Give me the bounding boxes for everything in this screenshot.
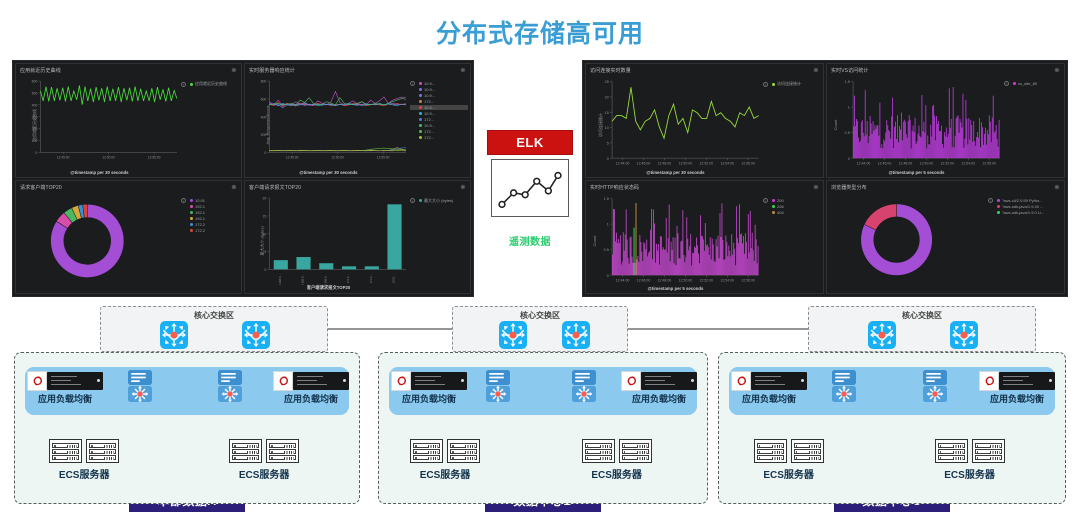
panel-plot-wrap: 051015202512:44:0012:46:0012:48:0012:50:… (588, 75, 821, 175)
legend-label: 最大大小 (bytes) (424, 198, 453, 204)
legend-color-dot (190, 205, 193, 208)
panel-title: 实时HTTP响应状态码 (586, 181, 823, 191)
ecs-group-right: ECS服务器 (579, 439, 655, 481)
legend-color-dot (190, 83, 193, 86)
legend-label: 10.9... (424, 105, 435, 110)
lb-label: 应用负载均衡 (391, 392, 467, 405)
datacenter-switch-right[interactable] (922, 369, 948, 403)
lb-appliance-icon (641, 372, 697, 390)
info-icon: i (410, 81, 415, 86)
gear-icon[interactable] (1054, 67, 1060, 73)
datacenter-switch-left[interactable] (127, 369, 153, 403)
panel-title: 请求客户端TOP20 (16, 181, 241, 191)
lb-label: 应用负载均衡 (273, 392, 349, 405)
svg-text:1: 1 (607, 222, 609, 226)
datacenter-switch-right[interactable] (571, 369, 597, 403)
panel-legend: i应用就近历史曲线 (181, 75, 239, 175)
legend-color-dot (419, 100, 422, 103)
svg-text:12:54:00: 12:54:00 (961, 162, 975, 166)
dashboard-panel: 客户端请求报文TOP2005101520192.168.0...192.168.… (244, 180, 471, 295)
panel-legend: i访问连接统计 (763, 75, 821, 175)
server-rack-icon (754, 439, 787, 463)
legend-item[interactable]: 404 (763, 210, 821, 215)
info-icon: i (1004, 81, 1009, 86)
panel-title: 实时VS访问统计 (827, 64, 1064, 74)
svg-text:12:46:00: 12:46:00 (637, 162, 651, 166)
lb-icon-row (273, 371, 349, 391)
plot-area (18, 192, 181, 292)
gear-icon[interactable] (813, 67, 819, 73)
dashboard-panel: 实时服务器响应统计020040060080012:45:0012:50:0012… (244, 63, 471, 178)
load-balancer-right: 应用负载均衡 (273, 371, 349, 405)
legend-color-dot (419, 106, 422, 109)
legend-color-dot (772, 83, 775, 86)
svg-text:0: 0 (264, 151, 266, 155)
dashboard-panel: 请求客户端TOP20i10.91192.1192.1192.1172.2172.… (15, 180, 242, 295)
y-axis-label: 最大大小 (bytes) (260, 227, 266, 256)
x-axis-label: @timestamp per 30 seconds (588, 170, 763, 175)
info-icon: i (763, 82, 768, 87)
dashboard-panel: 实时HTTP响应状态码00.511.512:44:0012:46:0012:48… (585, 180, 824, 295)
load-balancer-right: 应用负载均衡 (621, 371, 697, 405)
load-balancer-left: 应用负载均衡 (27, 371, 103, 405)
panel-legend: i200206404 (763, 192, 821, 292)
ecs-label: ECS服务器 (751, 466, 827, 481)
panel-plot-wrap: 020040060080012:45:0012:50:0012:55:00Avg… (247, 75, 468, 175)
legend-label: 10.9... (424, 123, 435, 128)
y-axis-label: Count (833, 119, 838, 130)
legend-item[interactable]: 192.1 (181, 204, 239, 209)
elk-header-label: ELK (487, 130, 573, 155)
dashboard-panel: 实时VS访问统计00.511.512:44:0012:46:0012:48:00… (826, 63, 1065, 178)
legend-color-dot (419, 136, 422, 139)
svg-text:10: 10 (605, 126, 609, 130)
legend-color-dot (772, 205, 775, 208)
plot-area: 05101520192.168.0...192.168.0...192.168.… (247, 192, 410, 292)
ecs-racks (579, 439, 655, 463)
svg-text:172.2...: 172.2... (369, 274, 373, 283)
legend-color-dot (997, 211, 1000, 214)
svg-text:15: 15 (605, 111, 609, 115)
legend-color-dot (419, 199, 422, 202)
core-switch-icon[interactable] (242, 321, 270, 349)
svg-text:20: 20 (263, 196, 267, 200)
core-switch-zone-1: 核心交换区 (100, 306, 328, 352)
f5-logo-icon (979, 371, 999, 391)
svg-text:172.2...: 172.2... (346, 274, 350, 283)
legend-color-dot (419, 112, 422, 115)
plot-area: 051015202512:44:0012:46:0012:48:0012:50:… (588, 75, 763, 175)
plot-area: 00.511.512:44:0012:46:0012:48:0012:50:00… (829, 75, 1004, 175)
panel-legend: i10.9...10.9...10.9...172...10.9...10.9.… (410, 75, 468, 175)
legend-item[interactable]: i10.9... (410, 81, 468, 86)
ecs-racks (46, 439, 122, 463)
svg-text:192.168.0...: 192.168.0... (301, 274, 305, 285)
svg-text:15: 15 (263, 214, 267, 218)
legend-label: 206 (777, 204, 784, 209)
server-rack-icon (619, 439, 652, 463)
legend-label: "aws-cli/2.0.59 Pytho... (1002, 198, 1043, 203)
svg-text:0: 0 (848, 157, 850, 161)
telemetry-data-label: 遥测数据 (487, 233, 573, 248)
legend-label: 172.2 (195, 222, 205, 227)
legend-label: 172... (424, 99, 434, 104)
svg-text:12:52:00: 12:52:00 (699, 162, 713, 166)
legend-label: 200 (777, 198, 784, 203)
ecs-group-left: ECS服务器 (46, 439, 122, 481)
svg-text:192.168.0...: 192.168.0... (278, 274, 282, 285)
dashboard-right: 访问连接实时数量051015202512:44:0012:46:0012:48:… (582, 60, 1068, 297)
svg-text:12:46:00: 12:46:00 (637, 278, 651, 282)
server-rack-icon (447, 439, 480, 463)
core-switch-icon[interactable] (868, 321, 896, 349)
info-icon: i (988, 198, 993, 203)
y-axis-label: 应用就近历史曲线 (32, 109, 38, 141)
gear-icon[interactable] (813, 184, 819, 190)
legend-color-dot (419, 82, 422, 85)
legend-item[interactable]: 192.1 (181, 210, 239, 215)
y-axis-label: 访问连接统计 (598, 113, 604, 137)
svg-text:12:54:00: 12:54:00 (720, 278, 734, 282)
legend-item[interactable]: 10.9... (410, 87, 468, 92)
legend-item[interactable]: 10.9... (410, 105, 468, 110)
legend-label: 10.9... (424, 93, 435, 98)
f5-logo-icon (27, 371, 47, 391)
svg-text:12:44:00: 12:44:00 (616, 162, 630, 166)
datacenter-3: 应用负载均衡 应用负载均衡 ECS服务器ECS服务器 (718, 352, 1066, 504)
legend-item[interactable]: "aws-sdk-java/1.9.40 ... (988, 204, 1062, 209)
svg-text:1.5: 1.5 (604, 197, 609, 201)
ecs-racks (932, 439, 1008, 463)
server-rack-icon (229, 439, 262, 463)
lb-label: 应用负载均衡 (731, 392, 807, 405)
svg-text:12:56:00: 12:56:00 (982, 162, 996, 166)
legend-item[interactable]: 172... (410, 99, 468, 104)
ecs-group-left: ECS服务器 (751, 439, 827, 481)
legend-item[interactable]: ivs_site_80 (1004, 81, 1062, 86)
svg-text:400: 400 (32, 103, 38, 107)
legend-label: 访问连接统计 (777, 81, 801, 87)
legend-color-dot (1013, 82, 1016, 85)
panel-legend: i"aws-cli/2.0.59 Pytho..."aws-sdk-java/1… (988, 192, 1062, 292)
svg-text:12:50:00: 12:50:00 (679, 162, 693, 166)
legend-label: vs_site_80 (1018, 81, 1037, 86)
svg-text:12:46:00: 12:46:00 (878, 162, 892, 166)
legend-item[interactable]: 172.2 (181, 228, 239, 233)
lb-icon-row (391, 371, 467, 391)
legend-label: "aws-sdk-java/1.9.0 Li... (1002, 210, 1044, 215)
f5-logo-icon (621, 371, 641, 391)
legend-item[interactable]: i200 (763, 198, 821, 203)
legend-color-dot (190, 199, 193, 202)
lb-icon-row (27, 371, 103, 391)
svg-text:0: 0 (607, 273, 609, 277)
svg-text:12:56:00: 12:56:00 (741, 162, 755, 166)
dashboard-panel: 访问连接实时数量051015202512:44:0012:46:0012:48:… (585, 63, 824, 178)
lb-label: 应用负载均衡 (621, 392, 697, 405)
svg-text:12:48:00: 12:48:00 (899, 162, 913, 166)
server-rack-icon (86, 439, 119, 463)
legend-item[interactable]: 192.1 (181, 216, 239, 221)
f5-logo-icon (391, 371, 411, 391)
core-switch-zone-3: 核心交换区 (808, 306, 1036, 352)
panel-legend: ivs_site_80 (1004, 75, 1062, 175)
lb-label: 应用负载均衡 (27, 392, 103, 405)
y-axis-label: Avg. Response/Accus (265, 105, 270, 144)
lb-appliance-icon (999, 372, 1055, 390)
info-icon: i (763, 198, 768, 203)
info-icon: i (181, 82, 186, 87)
legend-color-dot (419, 94, 422, 97)
svg-text:12:44:00: 12:44:00 (857, 162, 871, 166)
svg-text:0: 0 (35, 151, 37, 155)
legend-item[interactable]: 172... (410, 117, 468, 122)
legend-item[interactable]: 172... (410, 135, 468, 140)
load-balancer-right: 应用负载均衡 (979, 371, 1055, 405)
legend-item[interactable]: 172... (410, 129, 468, 134)
x-axis-label: 客户端请求报文TOP20 (247, 285, 410, 291)
svg-text:12:48:00: 12:48:00 (658, 162, 672, 166)
svg-text:5: 5 (607, 141, 609, 145)
svg-text:1.5: 1.5 (845, 80, 850, 84)
legend-item[interactable]: 172.2 (181, 222, 239, 227)
core-switch-icon[interactable] (499, 321, 527, 349)
legend-color-dot (419, 130, 422, 133)
legend-label: 10.9... (424, 111, 435, 116)
server-rack-icon (410, 439, 443, 463)
panel-title: 浏览器类型分布 (827, 181, 1064, 191)
svg-text:600: 600 (32, 80, 38, 84)
svg-text:12:52:00: 12:52:00 (940, 162, 954, 166)
y-axis-label: Count (592, 236, 597, 247)
panel-plot-wrap: 05101520192.168.0...192.168.0...192.168.… (247, 192, 468, 292)
legend-label: 应用就近历史曲线 (195, 81, 227, 87)
legend-label: 172... (424, 129, 434, 134)
x-axis-label: @timestamp per 30 seconds (247, 170, 410, 175)
lb-icon-row (621, 371, 697, 391)
gear-icon[interactable] (460, 67, 466, 73)
core-switch-zone-2: 核心交换区 (452, 306, 628, 352)
ecs-racks (226, 439, 302, 463)
panel-plot-wrap: 00.511.512:44:0012:46:0012:48:0012:50:00… (588, 192, 821, 292)
server-rack-icon (972, 439, 1005, 463)
legend-item[interactable]: i访问连接统计 (763, 81, 821, 87)
svg-text:12:54:00: 12:54:00 (720, 162, 734, 166)
panel-title: 访问连接实时数量 (586, 64, 823, 74)
plot-svg: 00.511.512:44:0012:46:0012:48:0012:50:00… (588, 192, 763, 293)
svg-text:12:45:00: 12:45:00 (286, 156, 299, 160)
ecs-label: ECS服务器 (46, 466, 122, 481)
svg-text:12:45:00: 12:45:00 (57, 156, 70, 160)
svg-text:12:50:00: 12:50:00 (102, 156, 115, 160)
info-icon: i (410, 198, 415, 203)
legend-color-dot (419, 124, 422, 127)
legend-label: 172.2 (195, 228, 205, 233)
server-rack-icon (582, 439, 615, 463)
lb-icon-row (979, 371, 1055, 391)
legend-label: 10.9... (424, 87, 435, 92)
legend-label: 404 (777, 210, 784, 215)
plot-svg: 051015202512:44:0012:46:0012:48:0012:50:… (588, 75, 763, 176)
elk-block: ELK 遥测数据 (487, 130, 573, 248)
panel-title: 应用就近历史曲线 (16, 64, 241, 74)
svg-text:500: 500 (32, 92, 38, 96)
legend-label: 10.9... (424, 81, 435, 86)
svg-text:20: 20 (605, 96, 609, 100)
legend-item[interactable]: "aws-sdk-java/1.9.0 Li... (988, 210, 1062, 215)
svg-text:12:44:00: 12:44:00 (616, 278, 630, 282)
legend-color-dot (997, 199, 1000, 202)
server-rack-icon (791, 439, 824, 463)
ecs-label: ECS服务器 (226, 466, 302, 481)
legend-item[interactable]: 10.9... (410, 123, 468, 128)
f5-logo-icon (273, 371, 293, 391)
legend-color-dot (772, 199, 775, 202)
plot-svg: 020040060080012:45:0012:50:0012:55:00 (247, 75, 410, 169)
svg-text:1: 1 (848, 106, 850, 110)
donut-svg (829, 192, 988, 283)
panel-legend: i10.91192.1192.1192.1172.2172.2 (181, 192, 239, 292)
server-rack-icon (266, 439, 299, 463)
svg-text:0.5: 0.5 (604, 248, 609, 252)
dashboard-panel: 应用就近历史曲线010020030040050060012:45:0012:50… (15, 63, 242, 178)
legend-label: 10.91 (195, 198, 205, 203)
legend-label: 192.1 (195, 210, 205, 215)
plot-area: 020040060080012:45:0012:50:0012:55:00Avg… (247, 75, 410, 175)
panel-plot-wrap: 010020030040050060012:45:0012:50:0012:55… (18, 75, 239, 175)
svg-text:800: 800 (261, 80, 267, 84)
ecs-group-left: ECS服务器 (407, 439, 483, 481)
svg-text:12:50:00: 12:50:00 (331, 156, 344, 160)
ecs-racks (407, 439, 483, 463)
svg-text:12:50:00: 12:50:00 (920, 162, 934, 166)
gear-icon[interactable] (460, 184, 466, 190)
core-zone-title: 核心交换区 (809, 310, 1035, 321)
lb-label: 应用负载均衡 (979, 392, 1055, 405)
svg-text:600: 600 (261, 97, 267, 101)
legend-color-dot (190, 217, 193, 220)
datacenter-switch-left[interactable] (485, 369, 511, 403)
gear-icon[interactable] (1054, 184, 1060, 190)
svg-text:12:52:00: 12:52:00 (699, 278, 713, 282)
panel-plot-wrap: 00.511.512:44:0012:46:0012:48:0012:50:00… (829, 75, 1062, 175)
plot-area: 00.511.512:44:0012:46:0012:48:0012:50:00… (588, 192, 763, 292)
plot-svg: 00.511.512:44:0012:46:0012:48:0012:50:00… (829, 75, 1004, 176)
legend-label: 192.1 (195, 216, 205, 221)
panel-legend: i最大大小 (bytes) (410, 192, 468, 292)
panel-title: 实时服务器响应统计 (245, 64, 470, 74)
svg-text:0: 0 (264, 267, 266, 271)
svg-text:0: 0 (607, 157, 609, 161)
server-rack-icon (935, 439, 968, 463)
lb-icon-row (731, 371, 807, 391)
plot-svg: 05101520192.168.0...192.168.0...192.168.… (247, 192, 410, 286)
ecs-label: ECS服务器 (407, 466, 483, 481)
legend-color-dot (190, 223, 193, 226)
legend-item[interactable]: i"aws-cli/2.0.59 Pytho... (988, 198, 1062, 203)
load-balancer-left: 应用负载均衡 (391, 371, 467, 405)
core-switch-icon[interactable] (562, 321, 590, 349)
legend-item[interactable]: 10.9... (410, 93, 468, 98)
svg-text:10.91...: 10.91... (392, 274, 396, 283)
legend-item[interactable]: i最大大小 (bytes) (410, 198, 468, 204)
svg-text:12:50:00: 12:50:00 (679, 278, 693, 282)
ecs-label: ECS服务器 (932, 466, 1008, 481)
legend-item[interactable]: 206 (763, 204, 821, 209)
plot-svg: 010020030040050060012:45:0012:50:0012:55… (18, 75, 181, 169)
dashboard-panel: 浏览器类型分布i"aws-cli/2.0.59 Pytho..."aws-sdk… (826, 180, 1065, 295)
legend-color-dot (190, 229, 193, 232)
datacenter-1: 应用负载均衡 应用负载均衡 ECS服务器ECS服务器 (14, 352, 360, 504)
legend-color-dot (772, 211, 775, 214)
legend-label: 172... (424, 135, 434, 140)
legend-item[interactable]: i应用就近历史曲线 (181, 81, 239, 87)
legend-color-dot (190, 211, 193, 214)
f5-logo-icon (731, 371, 751, 391)
legend-item[interactable]: i10.91 (181, 198, 239, 203)
panel-title: 客户端请求报文TOP20 (245, 181, 470, 191)
elk-chart-thumbnail (491, 159, 569, 217)
gear-icon[interactable] (231, 184, 237, 190)
legend-color-dot (997, 205, 1000, 208)
legend-color-dot (419, 88, 422, 91)
network-diagram: 核心交换区 核心交换区 核心交换区 本部数据A (0, 296, 1080, 516)
lb-appliance-icon (751, 372, 807, 390)
legend-item[interactable]: 10.9... (410, 111, 468, 116)
load-balancer-left: 应用负载均衡 (731, 371, 807, 405)
svg-text:12:56:00: 12:56:00 (741, 278, 755, 282)
core-zone-title: 核心交换区 (453, 310, 627, 321)
legend-label: 192.1 (195, 204, 205, 209)
dashboard-left: 应用就近历史曲线010020030040050060012:45:0012:50… (12, 60, 474, 297)
panel-plot-wrap: i"aws-cli/2.0.59 Pytho..."aws-sdk-java/1… (829, 192, 1062, 292)
legend-label: 172... (424, 117, 434, 122)
ecs-racks (751, 439, 827, 463)
panel-plot-wrap: i10.91192.1192.1192.1172.2172.2 (18, 192, 239, 292)
x-axis-label: @timestamp per 5 seconds (588, 286, 763, 291)
svg-text:0.5: 0.5 (845, 131, 850, 135)
ecs-group-right: ECS服务器 (226, 439, 302, 481)
ecs-label: ECS服务器 (579, 466, 655, 481)
lb-appliance-icon (411, 372, 467, 390)
plot-area (829, 192, 988, 292)
ecs-group-right: ECS服务器 (932, 439, 1008, 481)
lb-appliance-icon (47, 372, 103, 390)
legend-color-dot (419, 118, 422, 121)
datacenter-2: 应用负载均衡 应用负载均衡 ECS服务器ECS服务器 (378, 352, 708, 504)
info-icon: i (181, 198, 186, 203)
lb-appliance-icon (293, 372, 349, 390)
core-zone-title: 核心交换区 (101, 310, 327, 321)
svg-text:12:55:00: 12:55:00 (377, 156, 390, 160)
core-switch-icon[interactable] (950, 321, 978, 349)
svg-text:192.168.0...: 192.168.0... (323, 274, 327, 285)
svg-text:25: 25 (605, 80, 609, 84)
x-axis-label: @timestamp per 5 seconds (829, 170, 1004, 175)
datacenter-switch-left[interactable] (831, 369, 857, 403)
core-switch-icon[interactable] (160, 321, 188, 349)
legend-label: "aws-sdk-java/1.9.40 ... (1002, 204, 1043, 209)
plot-area: 010020030040050060012:45:0012:50:0012:55… (18, 75, 181, 175)
svg-text:12:55:00: 12:55:00 (148, 156, 161, 160)
svg-text:12:48:00: 12:48:00 (658, 278, 672, 282)
server-rack-icon (49, 439, 82, 463)
page-title: 分布式存储高可用 (0, 14, 1080, 50)
donut-svg (18, 192, 181, 286)
datacenter-switch-right[interactable] (217, 369, 243, 403)
elk-line-chart-icon (492, 160, 568, 216)
gear-icon[interactable] (231, 67, 237, 73)
